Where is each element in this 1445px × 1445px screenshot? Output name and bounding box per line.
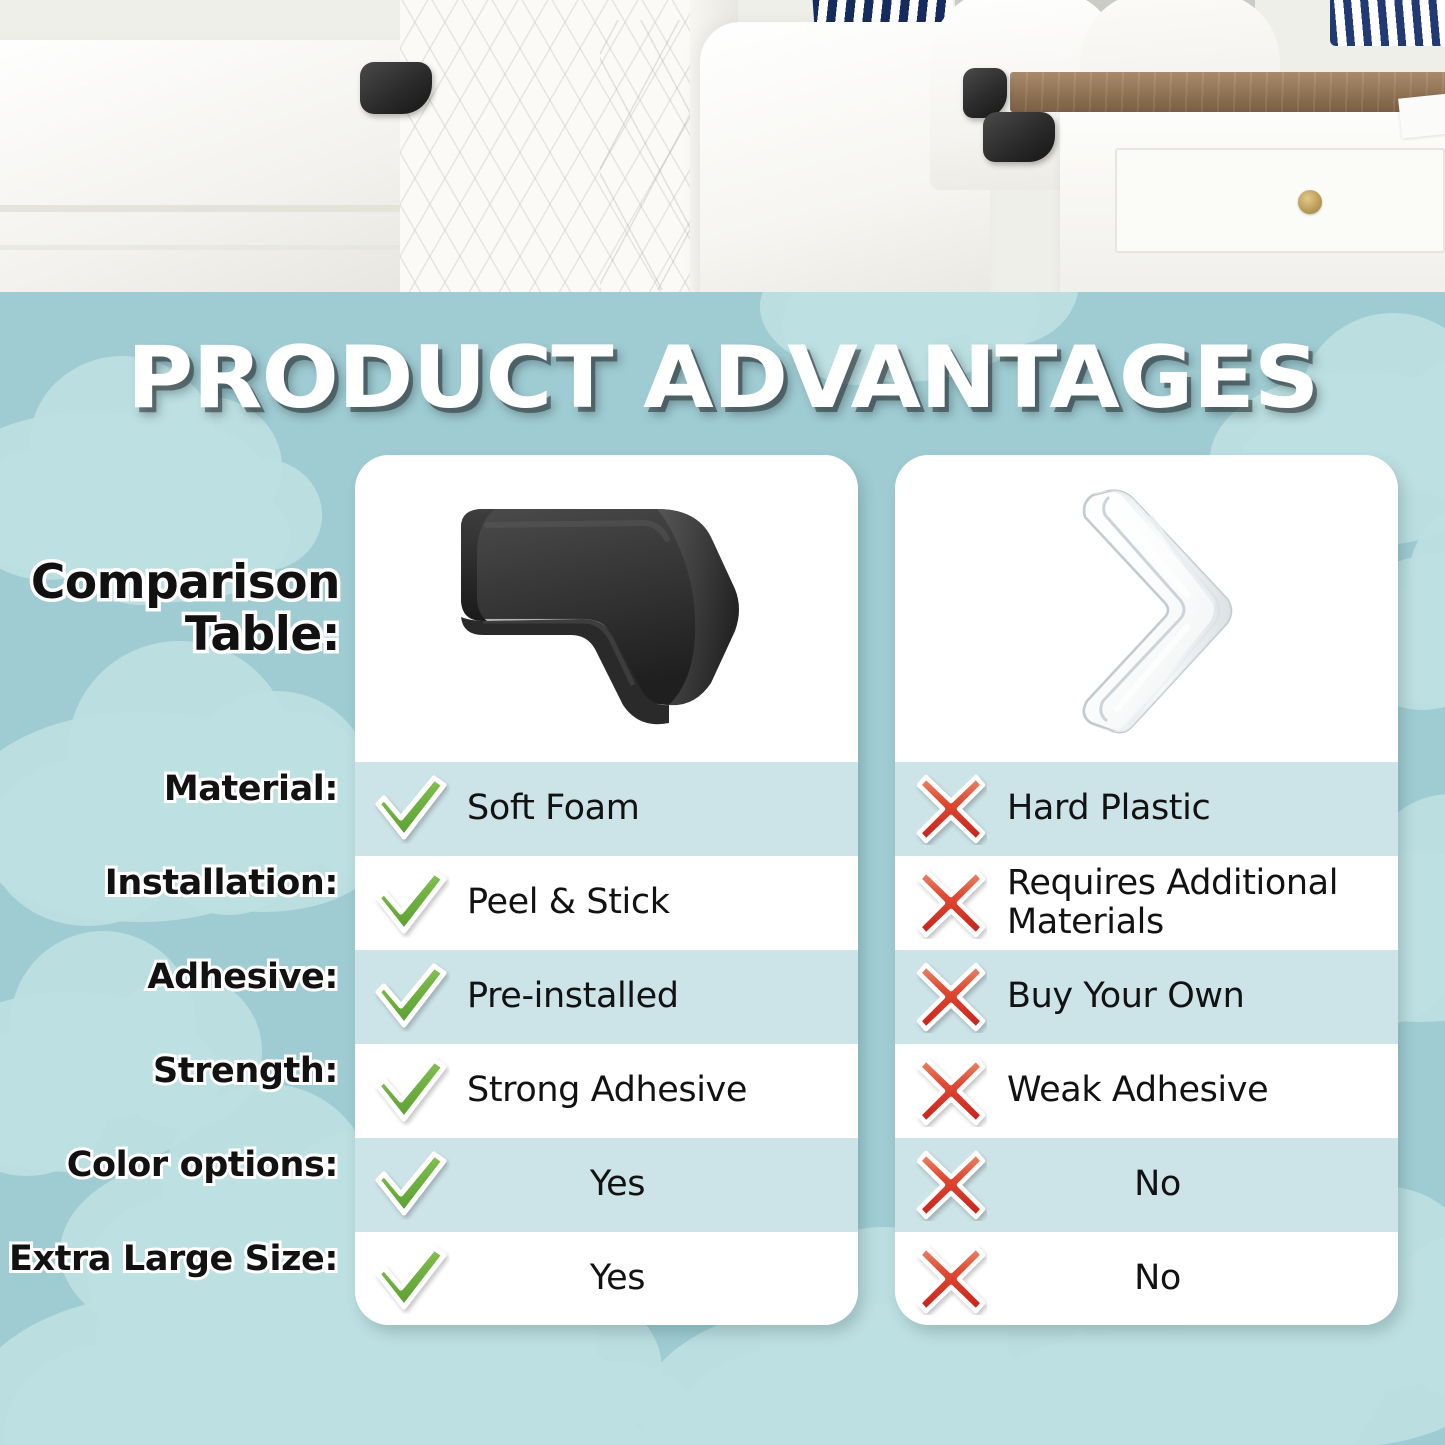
feature-row: Strong Adhesive (355, 1044, 858, 1138)
side-table-drawer (1115, 148, 1445, 253)
cross-icon (915, 961, 987, 1033)
product-card-plastic: Hard Plastic Requires Additional Materia… (895, 455, 1398, 1325)
feature-row: Yes (355, 1138, 858, 1232)
cross-icon (915, 1055, 987, 1127)
feature-value: Pre-installed (467, 977, 858, 1016)
plastic-guard-photo (895, 455, 1398, 762)
foam-feature-rows: Soft Foam Peel & Stick Pre-installed (355, 762, 858, 1325)
cross-mark (895, 961, 1007, 1033)
feature-value: Requires Additional Materials (1007, 864, 1398, 942)
paper-sheet (1398, 91, 1445, 138)
cross-icon (915, 773, 987, 845)
comparison-heading-line1: Comparison (0, 557, 340, 609)
feature-value: Hard Plastic (1007, 789, 1398, 828)
check-mark (355, 1150, 467, 1220)
check-icon (372, 868, 450, 938)
foam-corner-guard-illustration (443, 485, 773, 735)
feature-row: Peel & Stick (355, 856, 858, 950)
feature-value: Buy Your Own (1007, 977, 1398, 1016)
feature-row: No (895, 1138, 1398, 1232)
wood-grain-texture (1010, 72, 1445, 112)
check-icon (372, 1150, 450, 1220)
comparison-section: PRODUCT ADVANTAGES Comparison Table: Mat… (0, 292, 1445, 1445)
row-label-4: Strength: (0, 1051, 338, 1091)
cross-mark (895, 1243, 1007, 1315)
check-mark (355, 868, 467, 938)
feature-value: Yes (467, 1259, 858, 1298)
sofa-seam (0, 205, 440, 212)
row-label-1: Material: (0, 769, 338, 809)
comparison-heading-line2: Table: (0, 609, 340, 661)
feature-value: Strong Adhesive (467, 1071, 858, 1110)
check-mark (355, 1244, 467, 1314)
check-icon (372, 1056, 450, 1126)
feature-row: Buy Your Own (895, 950, 1398, 1044)
check-icon (372, 774, 450, 844)
cross-mark (895, 867, 1007, 939)
cross-icon (915, 1243, 987, 1315)
cross-icon (915, 867, 987, 939)
row-label-2: Installation: (0, 863, 338, 903)
sofa-seam-secondary (0, 245, 440, 250)
feature-row: No (895, 1232, 1398, 1325)
navy-striped-pillow-secondary (1330, 0, 1445, 46)
feature-row: Yes (355, 1232, 858, 1325)
check-icon (372, 962, 450, 1032)
plastic-corner-guard-illustration (1047, 477, 1262, 742)
feature-row: Pre-installed (355, 950, 858, 1044)
feature-value: No (1007, 1259, 1398, 1298)
infographic-page: PRODUCT ADVANTAGES Comparison Table: Mat… (0, 0, 1445, 1445)
installed-corner-guard-table-front (983, 112, 1055, 162)
feature-value: Soft Foam (467, 789, 858, 828)
drawer-knob (1298, 190, 1322, 214)
feature-row: Requires Additional Materials (895, 856, 1398, 950)
comparison-table-heading: Comparison Table: (0, 557, 340, 660)
row-label-6: Extra Large Size: (0, 1239, 338, 1279)
feature-row: Hard Plastic (895, 762, 1398, 856)
cross-mark (895, 1149, 1007, 1221)
lifestyle-photo-band (0, 0, 1445, 292)
plastic-feature-rows: Hard Plastic Requires Additional Materia… (895, 762, 1398, 1325)
product-card-foam: Soft Foam Peel & Stick Pre-installed (355, 455, 858, 1325)
feature-row: Weak Adhesive (895, 1044, 1398, 1138)
feature-value: Weak Adhesive (1007, 1071, 1398, 1110)
row-label-5: Color options: (0, 1145, 338, 1185)
row-label-3: Adhesive: (0, 957, 338, 997)
cross-mark (895, 1055, 1007, 1127)
check-icon (372, 1244, 450, 1314)
installed-corner-guard-sofa (360, 62, 432, 114)
installed-corner-guard-table-top (963, 68, 1007, 118)
feature-value: Peel & Stick (467, 883, 858, 922)
check-mark (355, 1056, 467, 1126)
page-title: PRODUCT ADVANTAGES (0, 328, 1445, 428)
feature-value: Yes (467, 1165, 858, 1204)
cross-mark (895, 773, 1007, 845)
foam-guard-photo (355, 455, 858, 762)
feature-value: No (1007, 1165, 1398, 1204)
check-mark (355, 774, 467, 844)
check-mark (355, 962, 467, 1032)
feature-row: Soft Foam (355, 762, 858, 856)
cross-icon (915, 1149, 987, 1221)
